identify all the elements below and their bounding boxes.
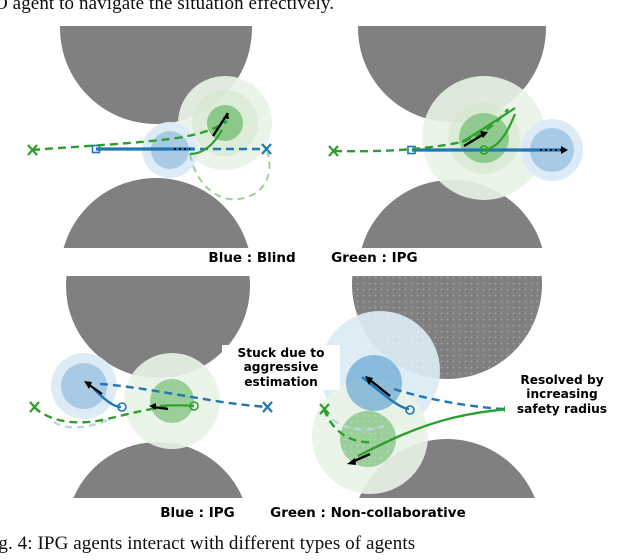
green-agent-body <box>150 379 194 423</box>
panel-top-left-svg <box>22 26 304 248</box>
legend-bottom-green: Green : Non-collaborative <box>270 505 466 521</box>
obstacle-bottom-disc <box>66 442 250 498</box>
blue-goal-marker <box>263 402 272 412</box>
figure-caption: ig. 4: IPG agents interact with differen… <box>0 533 619 555</box>
obstacle-bottom-disc <box>60 178 252 248</box>
legend-top-green: Green : IPG <box>331 250 417 266</box>
panel-top-right <box>312 26 602 248</box>
legend-top: Blue : Blind Green : IPG <box>0 250 626 266</box>
annotation-stuck-due-to-aggressive-estimation: Stuck due to aggressive estimation <box>222 345 340 390</box>
figure-page: O agent to navigate the situation effect… <box>0 0 626 560</box>
green-goal-marker <box>30 402 39 412</box>
legend-top-blue: Blue : Blind <box>208 250 295 266</box>
green-agent-texture <box>340 411 396 467</box>
panel-top-right-svg <box>312 26 602 248</box>
annotation-resolved-by-increasing-safety-radius: Resolved by increasing safety radius <box>505 372 619 417</box>
page-body-text-above: O agent to navigate the situation effect… <box>0 0 620 15</box>
legend-bottom: Blue : IPG Green : Non-collaborative <box>0 505 626 521</box>
blue-agent-body <box>61 363 107 409</box>
panel-top-left <box>22 26 304 248</box>
legend-bottom-blue: Blue : IPG <box>160 505 234 521</box>
green-travelled-path <box>160 405 194 406</box>
